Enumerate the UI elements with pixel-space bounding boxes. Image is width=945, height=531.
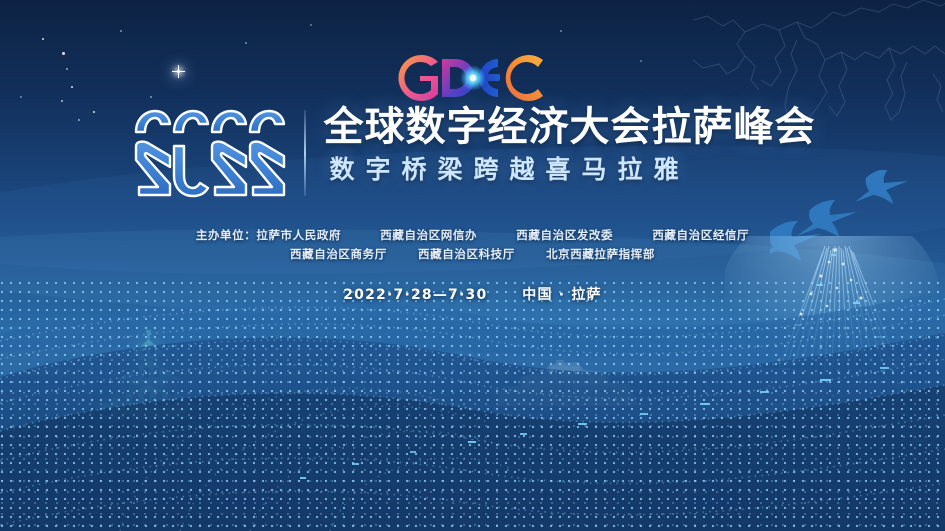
organizers-line-2: 西藏自治区商务厅 西藏自治区科技厅 北京西藏拉萨指挥部 [0,245,945,264]
event-location: 中国 · 拉萨 [522,284,601,304]
page-title: 全球数字经济大会拉萨峰会 [324,106,816,149]
organizer-item: 西藏自治区网信办 [380,226,477,245]
gdec-logo [0,54,945,102]
organizer-item: 西藏自治区科技厅 [418,245,515,264]
gdec-lhasa-summit-poster: 全球数字经济大会拉萨峰会 数字桥梁跨越喜马拉雅 主办单位：拉萨市人民政府 西藏自… [0,0,945,531]
organizer-item: 北京西藏拉萨指挥部 [546,245,655,264]
organizers-line-1: 主办单位：拉萨市人民政府 西藏自治区网信办 西藏自治区发改委 西藏自治区经信厅 [0,226,945,245]
page-subtitle: 数字桥梁跨越喜马拉雅 [324,156,816,184]
year-2022-graphic [130,104,290,202]
organizers-block: 主办单位：拉萨市人民政府 西藏自治区网信办 西藏自治区发改委 西藏自治区经信厅 … [0,226,945,264]
date-location-bar: 2022·7·28—7·30 中国 · 拉萨 [0,284,945,304]
organizer-item: 西藏自治区商务厅 [290,245,387,264]
title-divider [304,110,306,196]
organizer-item: 西藏自治区发改委 [516,226,613,245]
organizers-label: 主办单位： [196,226,257,245]
title-block: 全球数字经济大会拉萨峰会 数字桥梁跨越喜马拉雅 [0,104,945,202]
organizer-item: 拉萨市人民政府 [256,226,341,245]
event-date: 2022·7·28—7·30 [343,287,487,303]
particle-terrain-waves [0,281,945,531]
organizer-item: 西藏自治区经信厅 [652,226,749,245]
